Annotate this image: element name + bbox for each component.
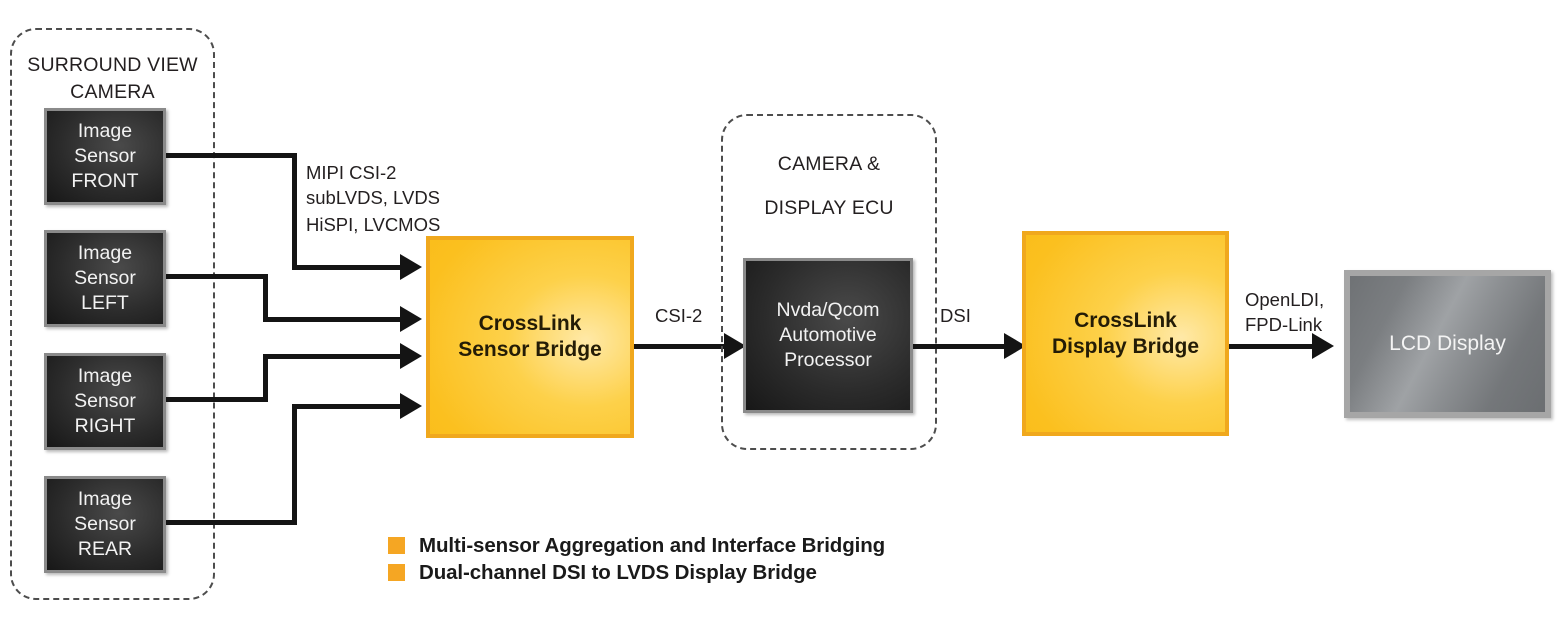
arrow-right-to-sensor-bridge <box>400 343 422 369</box>
block-automotive-processor[interactable]: Nvda/Qcom Automotive Processor <box>743 258 913 413</box>
legend-swatch-icon-0 <box>388 537 405 554</box>
sensor-front-line2: Sensor <box>74 144 136 169</box>
legend-label-0: Multi-sensor Aggregation and Interface B… <box>419 534 885 558</box>
arrow-front-to-sensor-bridge <box>400 254 422 280</box>
wire-rear-seg2 <box>292 404 297 525</box>
image-sensor-left: Image Sensor LEFT <box>44 230 166 327</box>
wire-right-seg2 <box>263 354 268 402</box>
wire-openldi <box>1229 344 1318 349</box>
sensor-right-line2: Sensor <box>74 389 136 414</box>
processor-line3: Processor <box>784 348 872 373</box>
wire-csi2 <box>634 344 730 349</box>
label-sensor-interfaces-primary: MIPI CSI-2 subLVDS, LVDS <box>306 160 506 210</box>
block-lcd-display: LCD Display <box>1344 270 1551 418</box>
wire-front-seg3 <box>292 265 402 270</box>
label-sensor-interfaces-secondary: HiSPI, LVCMOS <box>306 212 506 237</box>
sensor-rear-line1: Image <box>78 487 132 512</box>
sensor-bridge-line1: CrossLink <box>479 311 582 337</box>
image-sensor-front: Image Sensor FRONT <box>44 108 166 205</box>
processor-line1: Nvda/Qcom <box>777 298 880 323</box>
sensor-rear-line2: Sensor <box>74 512 136 537</box>
sensor-left-line2: Sensor <box>74 266 136 291</box>
wire-front-seg2 <box>292 153 297 268</box>
wire-rear-seg1 <box>166 520 297 525</box>
sensor-front-line3: FRONT <box>71 169 138 194</box>
label-dsi: DSI <box>940 303 971 328</box>
label-csi2: CSI-2 <box>655 303 702 328</box>
wire-right-seg1 <box>166 397 268 402</box>
wire-left-seg3 <box>263 317 402 322</box>
sensor-bridge-line2: Sensor Bridge <box>458 337 602 363</box>
wire-right-seg3 <box>263 354 402 359</box>
legend: Multi-sensor Aggregation and Interface B… <box>388 532 885 586</box>
sensor-left-line1: Image <box>78 241 132 266</box>
wire-left-seg1 <box>166 274 268 279</box>
display-bridge-line1: CrossLink <box>1074 308 1177 334</box>
image-sensor-right: Image Sensor RIGHT <box>44 353 166 450</box>
legend-item-dual-channel-dsi: Dual-channel DSI to LVDS Display Bridge <box>388 559 885 586</box>
image-sensor-rear: Image Sensor REAR <box>44 476 166 573</box>
block-crosslink-display-bridge[interactable]: CrossLink Display Bridge <box>1022 231 1229 436</box>
wire-front-seg1 <box>166 153 297 158</box>
display-bridge-line2: Display Bridge <box>1052 334 1199 360</box>
wire-rear-seg3 <box>292 404 402 409</box>
sensor-right-line3: RIGHT <box>75 414 136 439</box>
group-surround-view-camera-caption: SURROUND VIEW CAMERA <box>10 52 215 106</box>
group-camera-display-ecu-caption: CAMERA & DISPLAY ECU <box>721 142 937 230</box>
diagram-canvas: SURROUND VIEW CAMERA Image Sensor FRONT … <box>0 0 1558 637</box>
block-crosslink-sensor-bridge[interactable]: CrossLink Sensor Bridge <box>426 236 634 438</box>
legend-label-1: Dual-channel DSI to LVDS Display Bridge <box>419 561 817 585</box>
legend-swatch-icon-1 <box>388 564 405 581</box>
arrow-left-to-sensor-bridge <box>400 306 422 332</box>
sensor-front-line1: Image <box>78 119 132 144</box>
wire-dsi <box>913 344 1010 349</box>
wire-left-seg2 <box>263 274 268 322</box>
arrow-rear-to-sensor-bridge <box>400 393 422 419</box>
sensor-left-line3: LEFT <box>81 291 129 316</box>
sensor-rear-line3: REAR <box>78 537 132 562</box>
processor-line2: Automotive <box>779 323 877 348</box>
legend-item-multi-sensor-aggregation: Multi-sensor Aggregation and Interface B… <box>388 532 885 559</box>
sensor-right-line1: Image <box>78 364 132 389</box>
lcd-display-label: LCD Display <box>1389 332 1506 356</box>
